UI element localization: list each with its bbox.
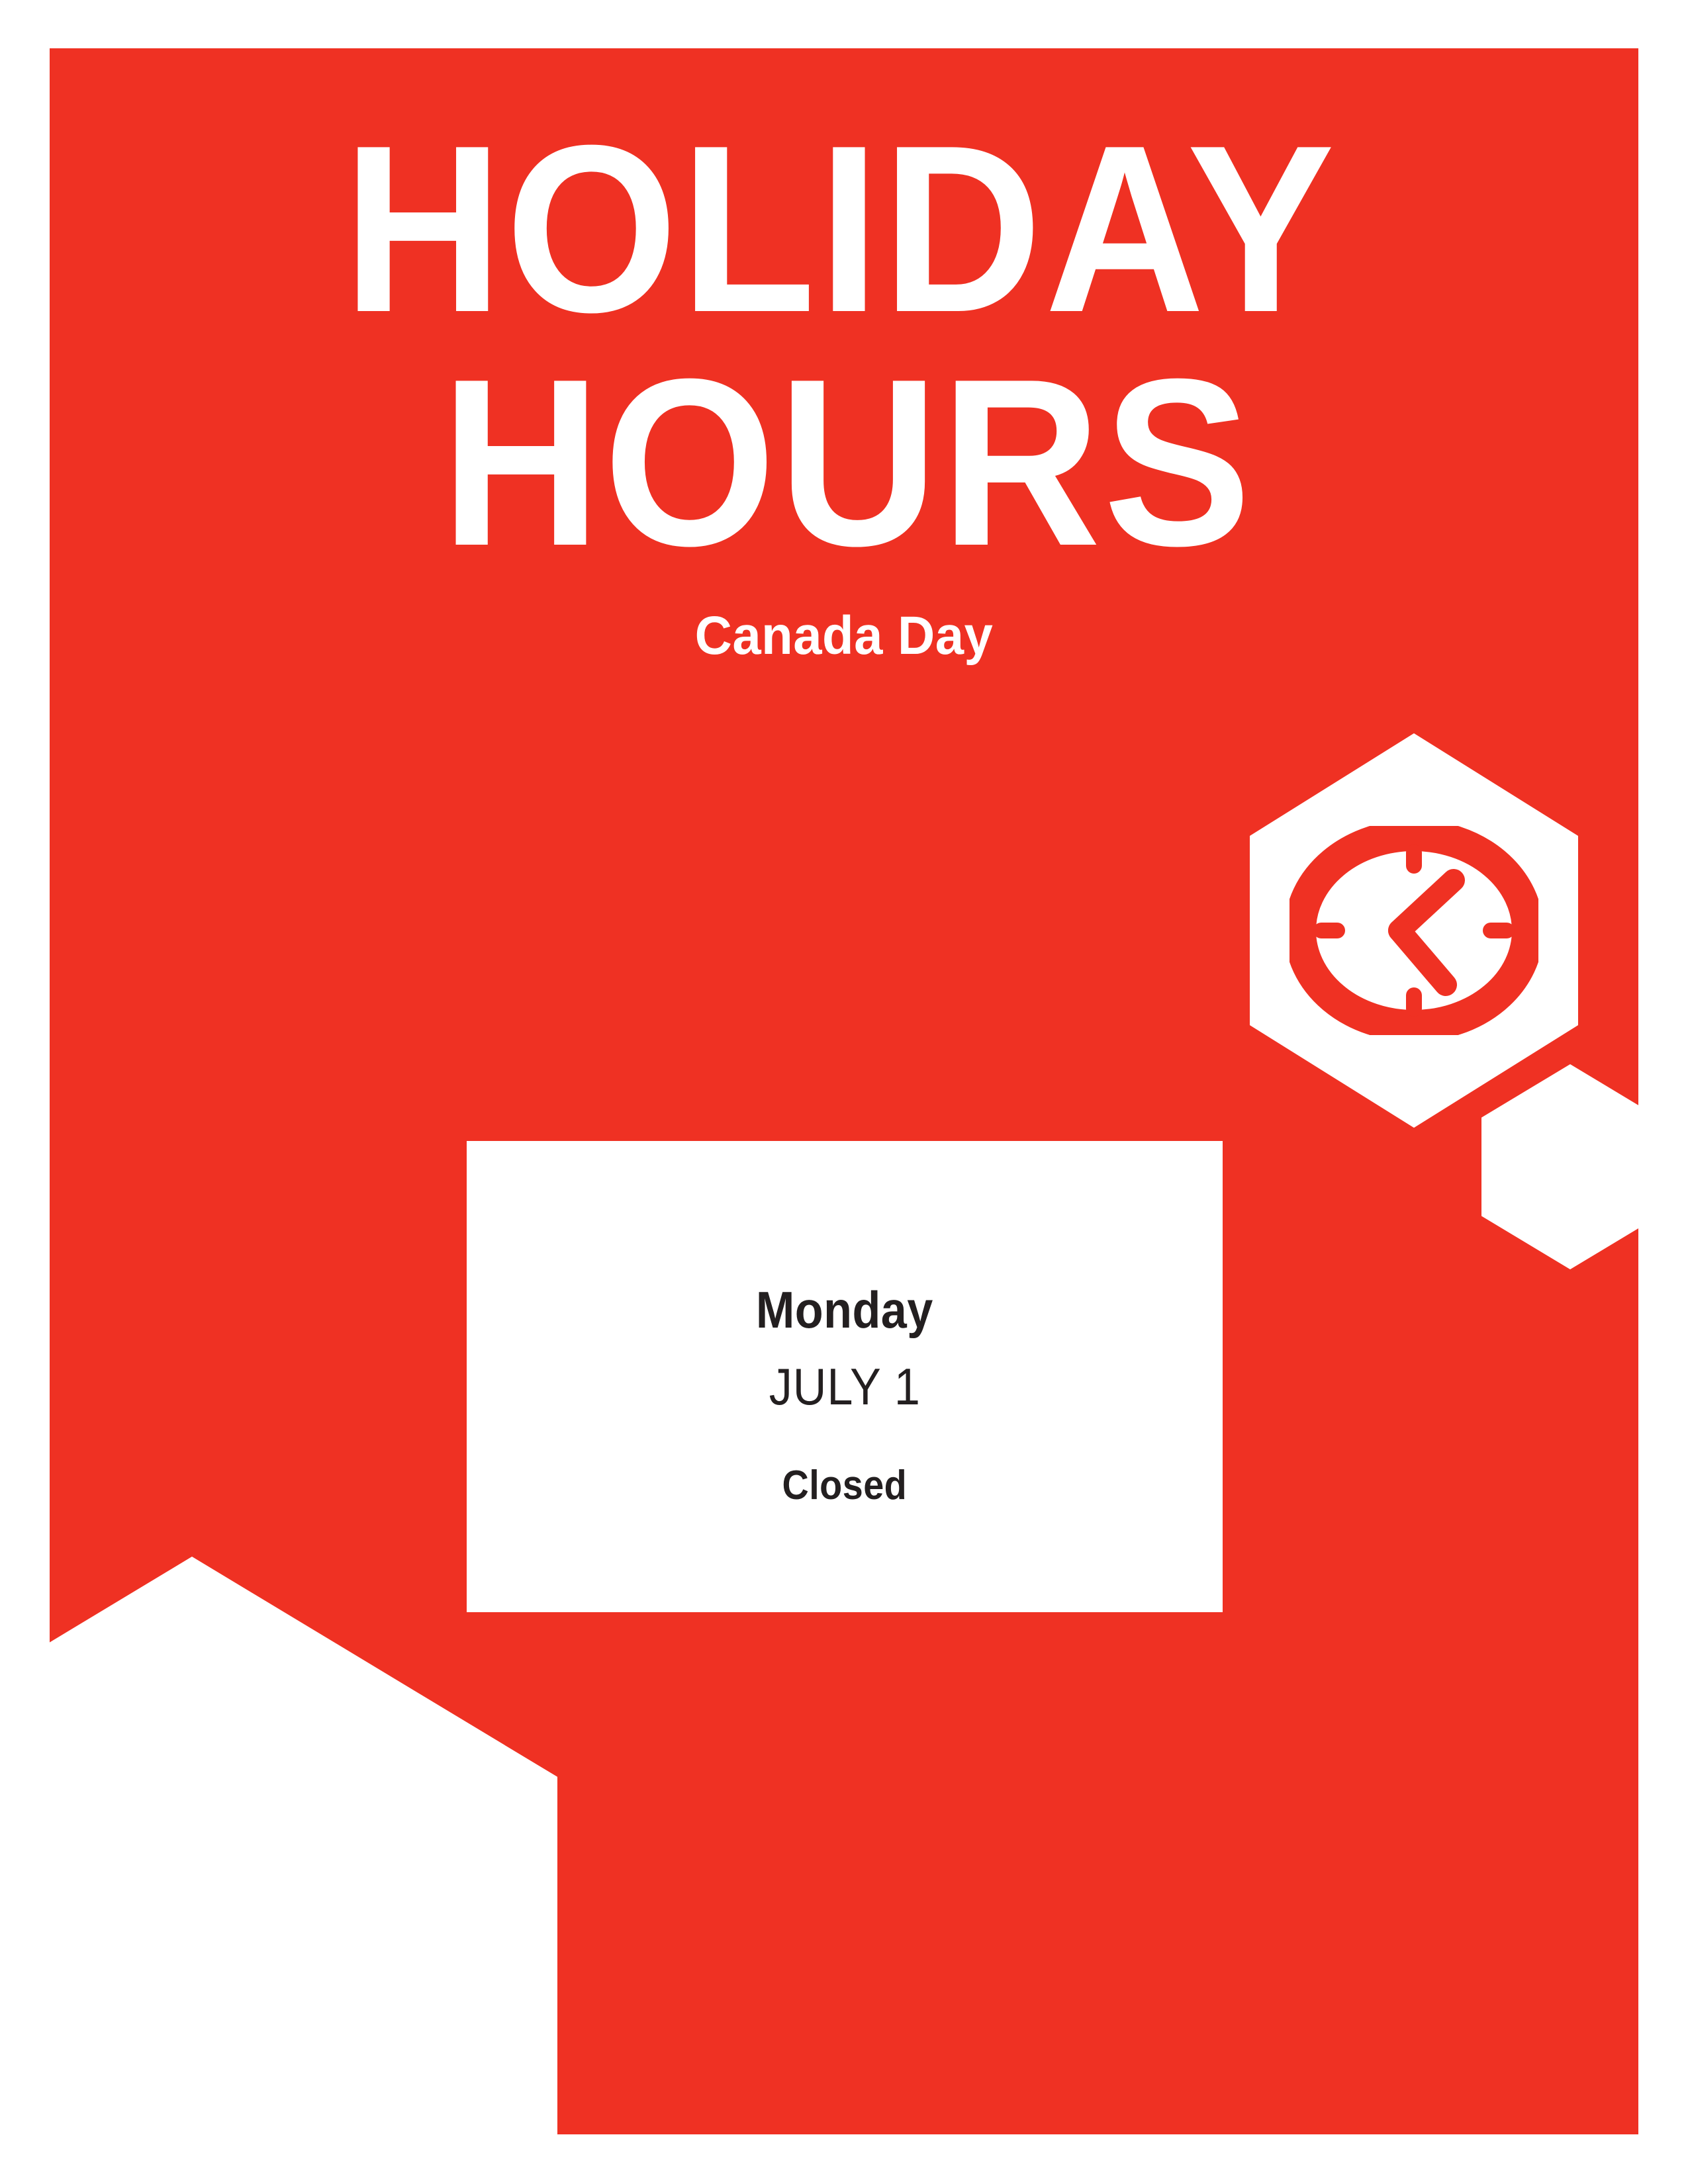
card-date-label: JULY 1 xyxy=(769,1361,920,1412)
clock-icon xyxy=(1289,826,1538,1035)
card-day-label: Monday xyxy=(756,1284,933,1336)
card-status-label: Closed xyxy=(782,1465,908,1506)
holiday-info-card: Monday JULY 1 Closed xyxy=(467,1141,1223,1612)
holiday-hours-poster: HOLIDAY HOURS Canada Day Monday JULY 1 C… xyxy=(0,0,1688,2184)
